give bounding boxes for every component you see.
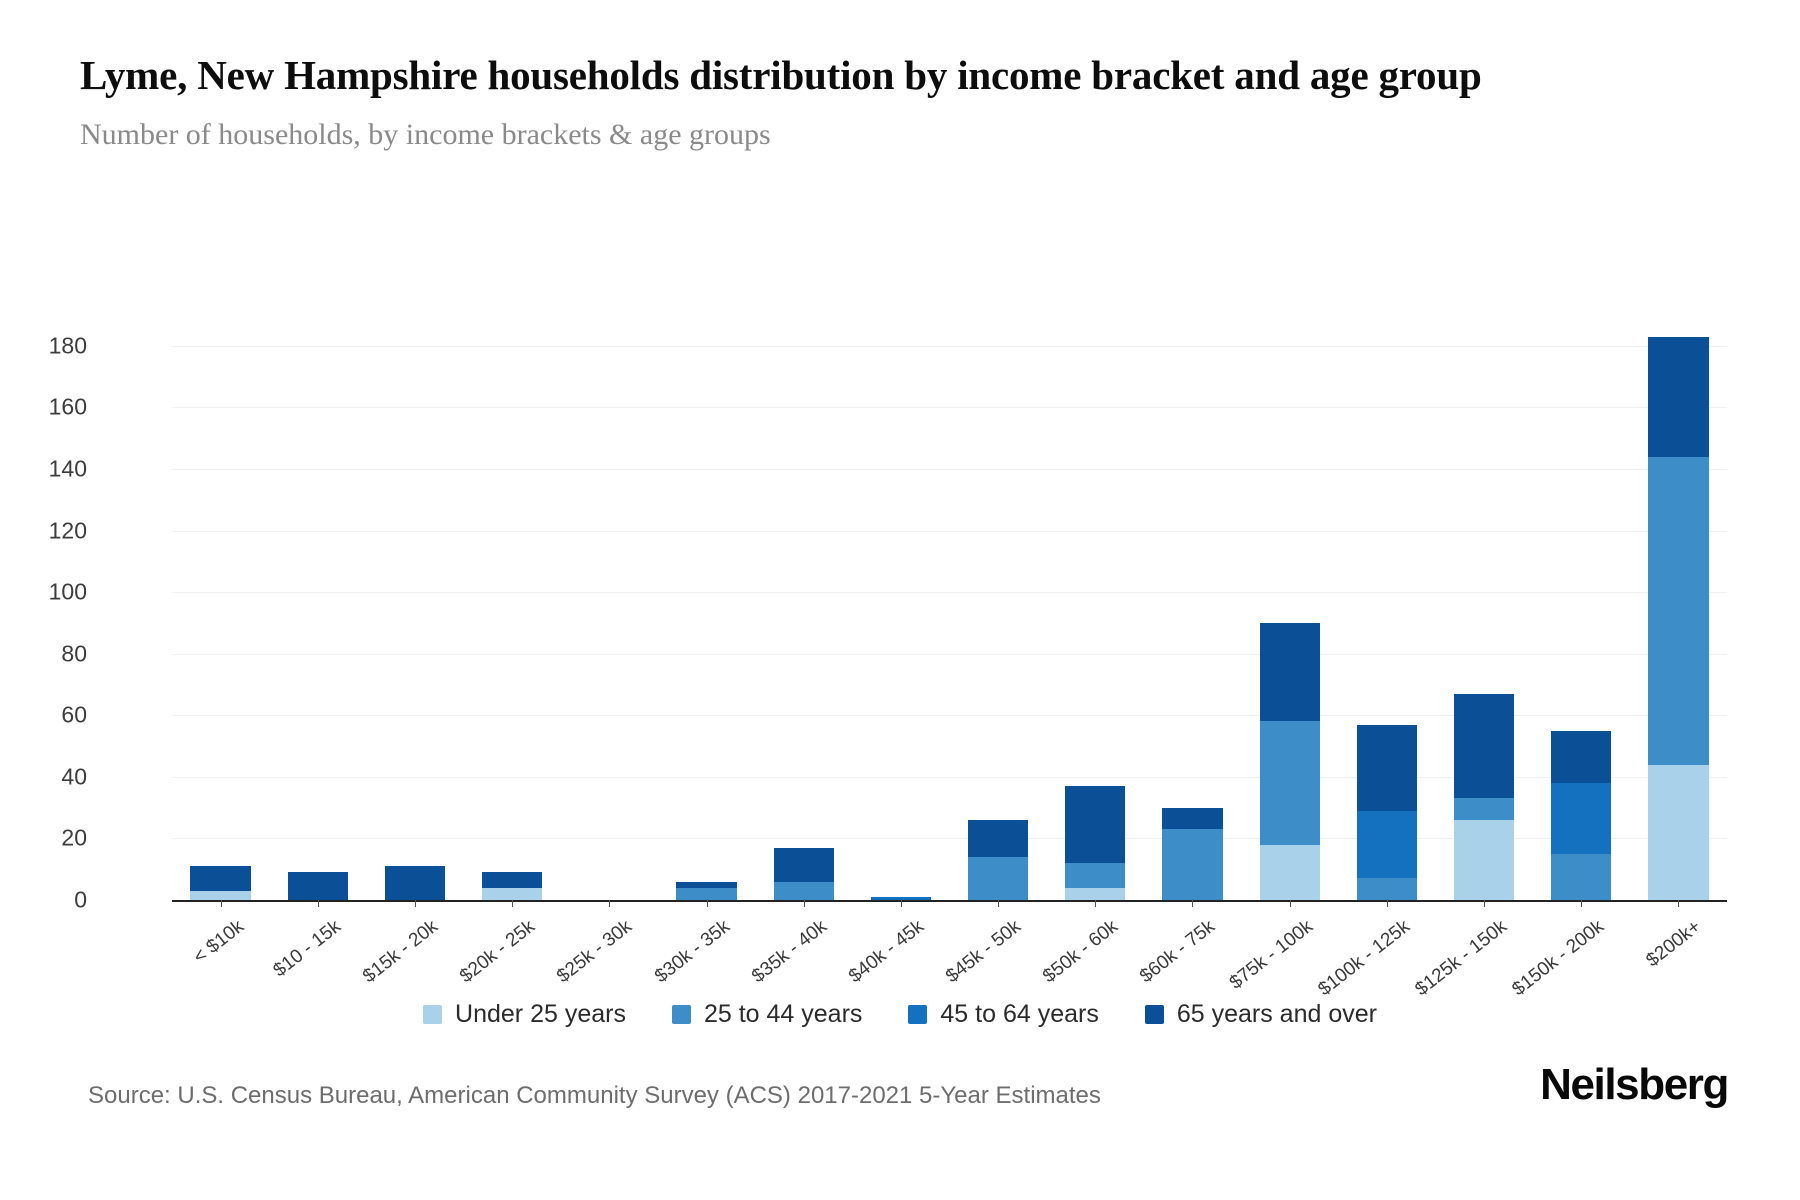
bar-segment[interactable] (1065, 863, 1125, 888)
bar-stack[interactable] (482, 872, 542, 900)
bar-segment[interactable] (968, 857, 1028, 900)
y-axis-tick-label: 60 (0, 702, 87, 729)
legend-swatch-icon (672, 1005, 691, 1024)
bar-segment[interactable] (676, 888, 736, 900)
x-axis-tick (707, 900, 708, 907)
chart-subtitle: Number of households, by income brackets… (80, 118, 1740, 152)
legend-label: 65 years and over (1177, 1000, 1377, 1029)
x-axis-tick (512, 900, 513, 907)
x-axis-tick (1581, 900, 1582, 907)
x-axis-tick (415, 900, 416, 907)
bar-segment[interactable] (1551, 854, 1611, 900)
x-axis-tick (1095, 900, 1096, 907)
legend-swatch-icon (1145, 1005, 1164, 1024)
bar-segment[interactable] (190, 891, 250, 900)
plot-canvas: 020406080100120140160180 < $10k$10 - 15k… (172, 305, 1727, 955)
bar-segment[interactable] (385, 866, 445, 900)
legend-item[interactable]: Under 25 years (423, 1000, 626, 1029)
x-axis-tick (318, 900, 319, 907)
bar-segment[interactable] (1454, 820, 1514, 900)
bar-stack[interactable] (676, 882, 736, 900)
x-axis-tick (1678, 900, 1679, 907)
y-axis-tick-label: 100 (0, 579, 87, 606)
bar-stack[interactable] (1065, 786, 1125, 900)
bar-segment[interactable] (1260, 845, 1320, 900)
x-axis-line (172, 900, 1727, 902)
y-axis-tick-label: 160 (0, 394, 87, 421)
bar-stack[interactable] (1357, 725, 1417, 900)
bar-segment[interactable] (190, 866, 250, 891)
bar-segment[interactable] (1162, 808, 1222, 830)
bar-stack[interactable] (1648, 337, 1708, 900)
legend-item[interactable]: 65 years and over (1145, 1000, 1377, 1029)
bar-stack[interactable] (968, 820, 1028, 900)
bar-segment[interactable] (288, 872, 348, 900)
chart-legend: Under 25 years25 to 44 years45 to 64 yea… (0, 1000, 1800, 1029)
x-axis-tick (804, 900, 805, 907)
bar-segment[interactable] (1454, 694, 1514, 799)
chart-page: Lyme, New Hampshire households distribut… (0, 0, 1800, 1200)
legend-item[interactable]: 25 to 44 years (672, 1000, 862, 1029)
page-title: Lyme, New Hampshire households distribut… (80, 50, 1710, 100)
legend-swatch-icon (908, 1005, 927, 1024)
bar-segment[interactable] (774, 848, 834, 882)
y-axis-tick-label: 140 (0, 455, 87, 482)
chart-header: Lyme, New Hampshire households distribut… (80, 50, 1740, 152)
legend-swatch-icon (423, 1005, 442, 1024)
y-axis-tick-label: 80 (0, 640, 87, 667)
bar-segment[interactable] (1065, 888, 1125, 900)
y-axis-tick-label: 40 (0, 763, 87, 790)
bar-segment[interactable] (1357, 878, 1417, 900)
bar-stack[interactable] (288, 872, 348, 900)
chart-footer: Source: U.S. Census Bureau, American Com… (0, 1060, 1800, 1150)
bar-stack[interactable] (1551, 731, 1611, 900)
bar-segment[interactable] (1260, 721, 1320, 844)
bar-segment[interactable] (968, 820, 1028, 857)
bar-stack[interactable] (774, 848, 834, 900)
y-axis-tick-label: 180 (0, 332, 87, 359)
bar-segment[interactable] (1260, 623, 1320, 722)
x-axis-tick (609, 900, 610, 907)
bar-segment[interactable] (1551, 783, 1611, 854)
y-axis-tick-label: 20 (0, 825, 87, 852)
legend-item[interactable]: 45 to 64 years (908, 1000, 1098, 1029)
x-axis-tick (901, 900, 902, 907)
x-axis-tick (998, 900, 999, 907)
brand-logo: Neilsberg (1540, 1060, 1728, 1110)
bar-segment[interactable] (1648, 457, 1708, 765)
x-axis-tick (221, 900, 222, 907)
bar-segment[interactable] (482, 872, 542, 887)
bar-stack[interactable] (385, 866, 445, 900)
bar-segment[interactable] (1065, 786, 1125, 863)
source-note: Source: U.S. Census Bureau, American Com… (88, 1082, 1101, 1110)
bar-stack[interactable] (1260, 623, 1320, 900)
bar-segment[interactable] (482, 888, 542, 900)
bar-segment[interactable] (1648, 337, 1708, 457)
bar-segment[interactable] (1454, 798, 1514, 820)
bar-stack[interactable] (190, 866, 250, 900)
y-axis-tick-label: 120 (0, 517, 87, 544)
chart-plot-area: 020406080100120140160180 < $10k$10 - 15k… (0, 255, 1800, 915)
x-axis-tick (1192, 900, 1193, 907)
bar-segment[interactable] (1551, 731, 1611, 783)
y-axis-tick-label: 0 (0, 887, 87, 914)
bar-stack[interactable] (1162, 808, 1222, 900)
legend-label: 45 to 64 years (940, 1000, 1098, 1029)
legend-label: 25 to 44 years (704, 1000, 862, 1029)
x-axis-tick (1387, 900, 1388, 907)
bar-segment[interactable] (1162, 829, 1222, 900)
bar-segment[interactable] (1357, 725, 1417, 811)
bar-stack[interactable] (1454, 694, 1514, 900)
x-axis-tick (1484, 900, 1485, 907)
bar-segment[interactable] (774, 882, 834, 900)
bar-segment[interactable] (1648, 765, 1708, 900)
bars-layer (172, 305, 1727, 955)
legend-label: Under 25 years (455, 1000, 626, 1029)
bar-segment[interactable] (1357, 811, 1417, 879)
x-axis-tick (1290, 900, 1291, 907)
